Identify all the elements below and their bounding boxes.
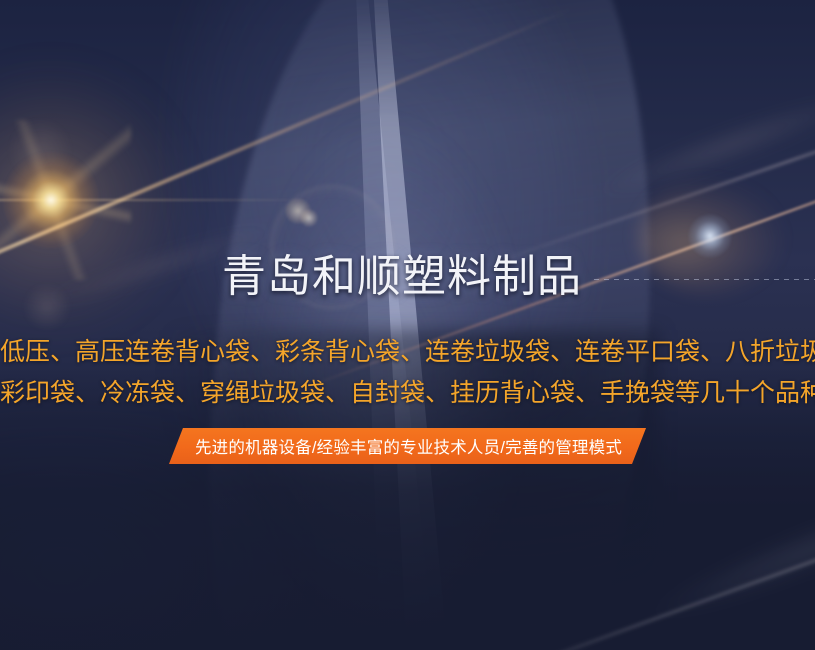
title-row: 青岛和顺塑料制品 bbox=[0, 248, 815, 306]
dashed-rule bbox=[594, 279, 815, 280]
tagline-badge: 先进的机器设备/经验丰富的专业技术人员/完善的管理模式 bbox=[169, 428, 646, 464]
product-list-line-2: 彩印袋、冷冻袋、穿绳垃圾袋、自封袋、挂历背心袋、手挽袋等几十个品种 bbox=[0, 381, 815, 406]
promo-banner: 青岛和顺塑料制品 低压、高压连卷背心袋、彩条背心袋、连卷垃圾袋、连卷平口袋、八折… bbox=[0, 0, 815, 650]
banner-content: 青岛和顺塑料制品 低压、高压连卷背心袋、彩条背心袋、连卷垃圾袋、连卷平口袋、八折… bbox=[0, 0, 815, 650]
company-title: 青岛和顺塑料制品 bbox=[222, 255, 582, 299]
tagline-container: 先进的机器设备/经验丰富的专业技术人员/完善的管理模式 bbox=[0, 428, 815, 464]
product-list-line-1: 低压、高压连卷背心袋、彩条背心袋、连卷垃圾袋、连卷平口袋、八折垃圾袋、 bbox=[0, 340, 815, 365]
